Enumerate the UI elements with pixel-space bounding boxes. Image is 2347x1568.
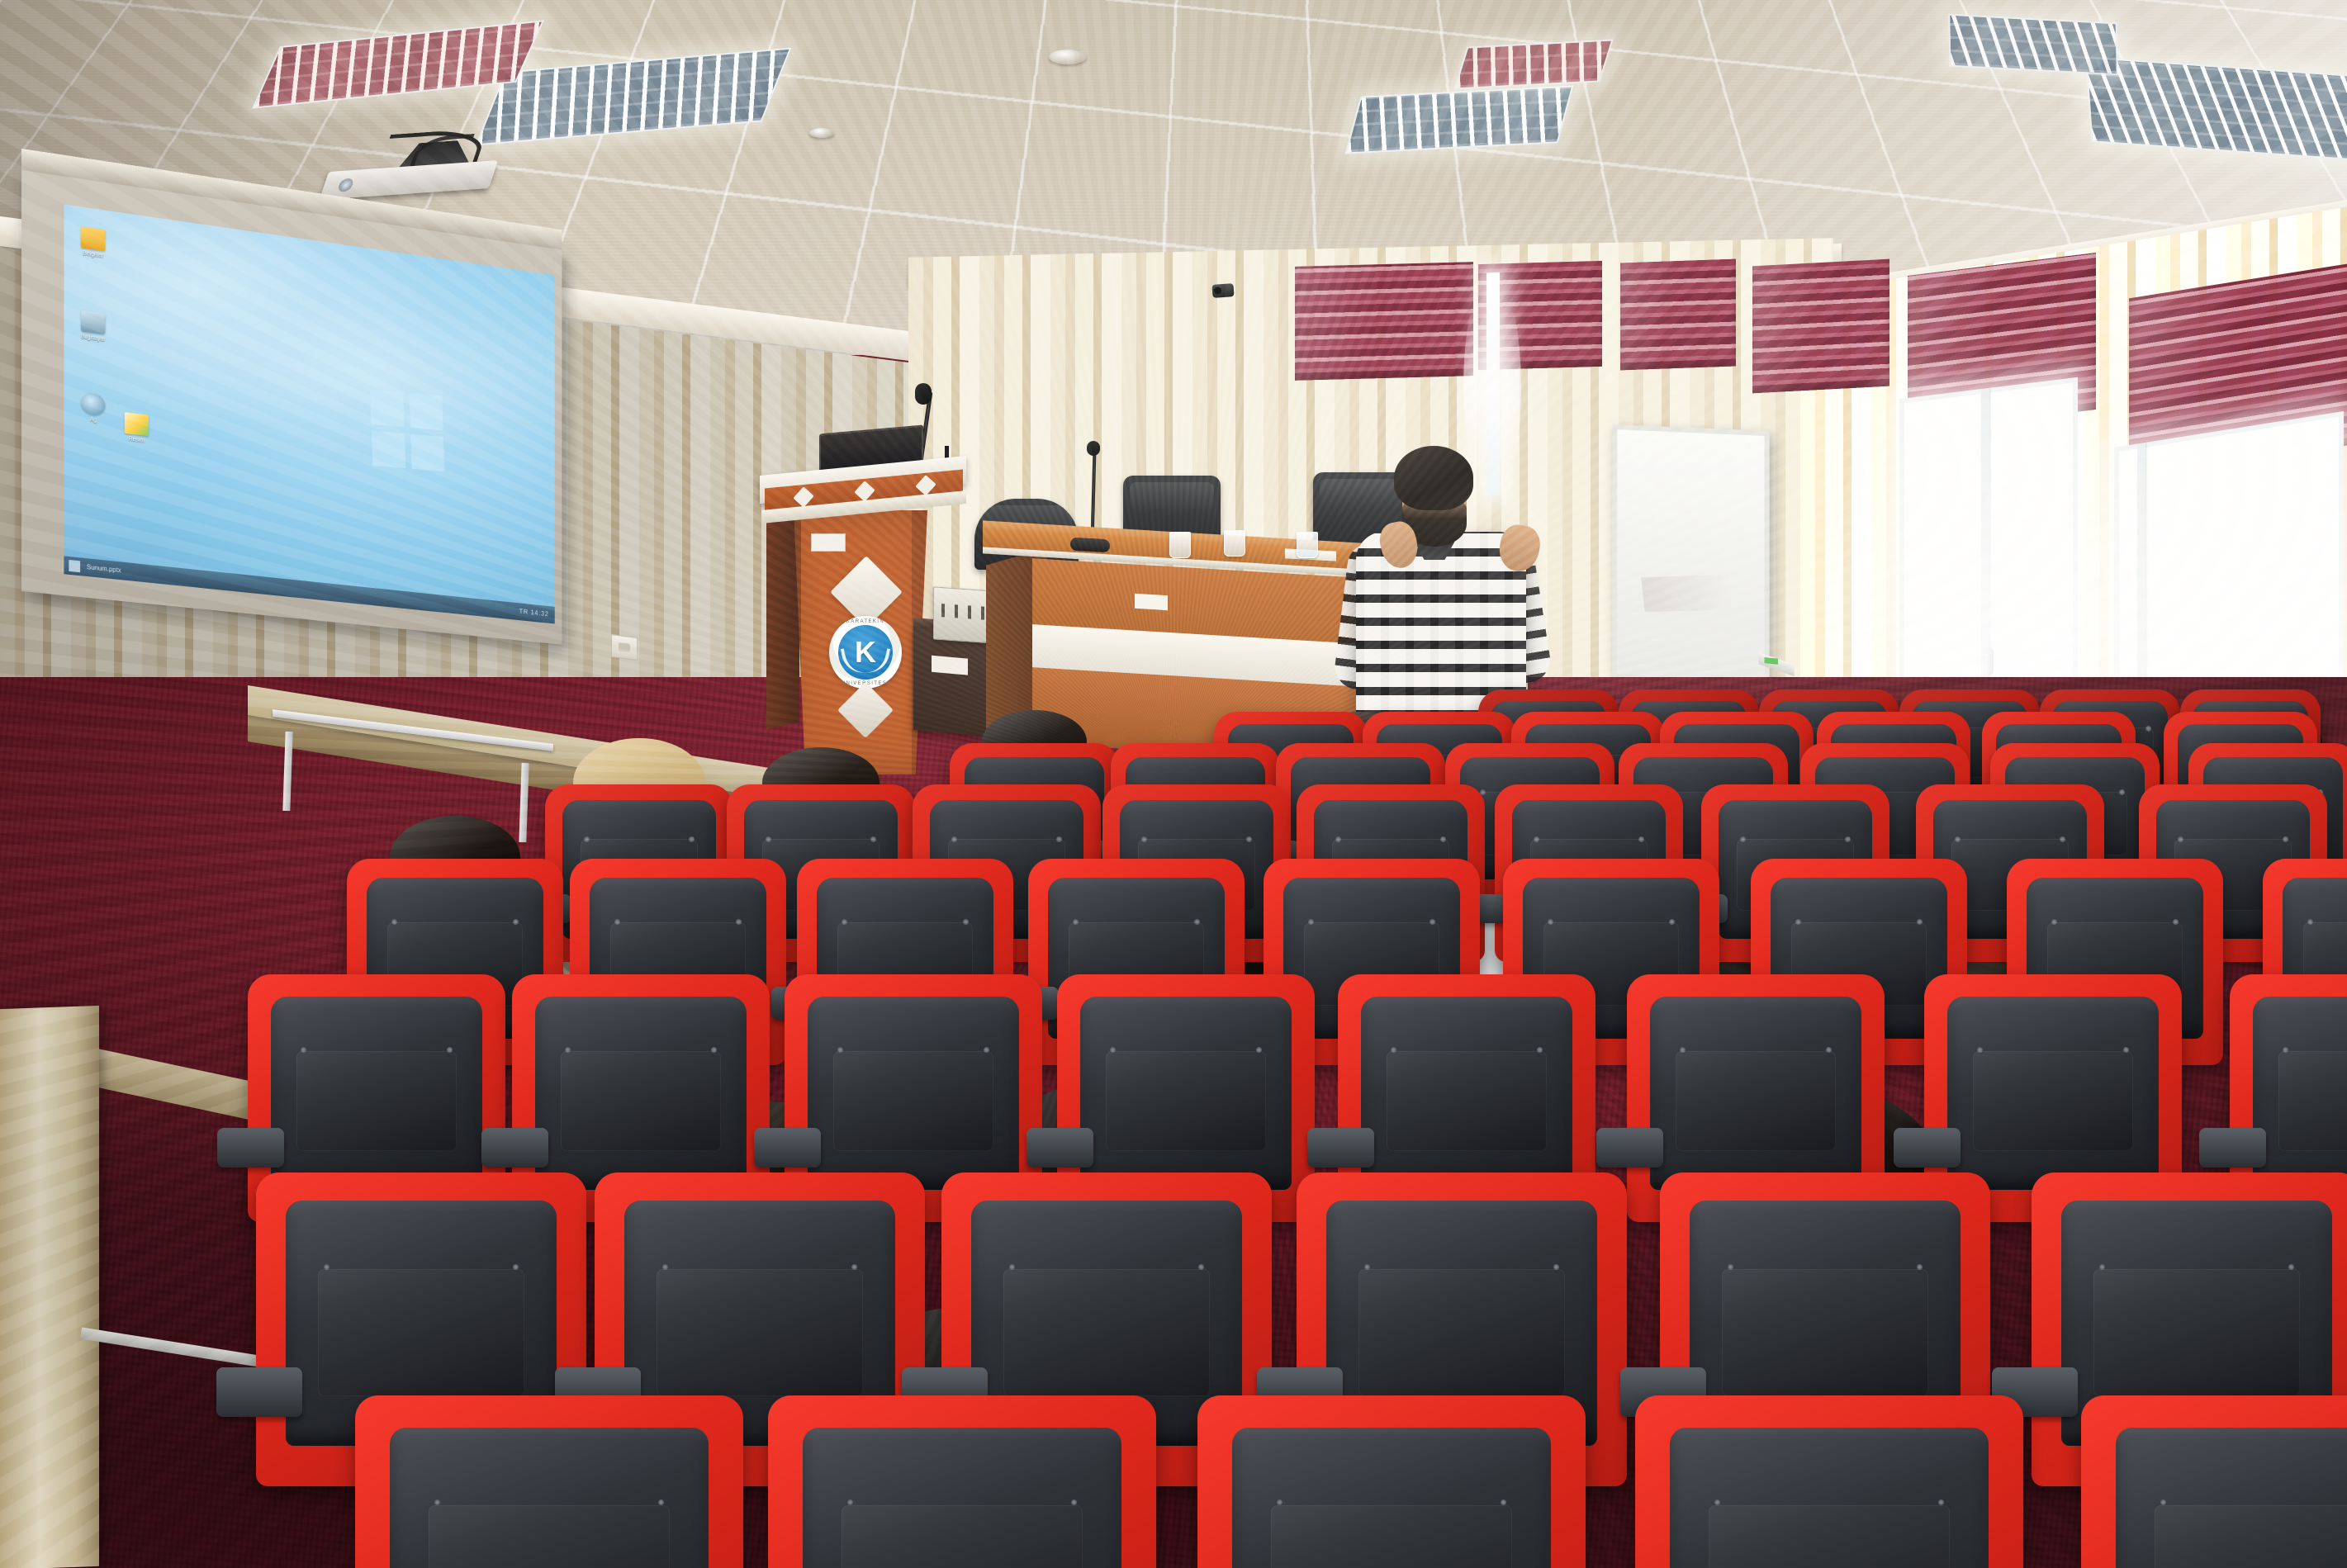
seat-armrest: [1596, 1128, 1663, 1168]
auditorium-seat[interactable]: [1635, 1395, 2023, 1568]
seat-back: [1650, 997, 1861, 1190]
seat-back: [808, 997, 1019, 1190]
seat-back: [2253, 997, 2347, 1190]
door-jamb: [0, 1006, 99, 1568]
seat-back: [1947, 997, 2159, 1190]
seat-armrest: [2199, 1128, 2266, 1168]
seat-armrest: [1307, 1128, 1374, 1168]
audience-seating-area: [0, 0, 2347, 1568]
seat-back: [2116, 1428, 2347, 1568]
seat-back: [535, 997, 747, 1190]
auditorium-seat[interactable]: [1197, 1395, 1586, 1568]
auditorium-seat[interactable]: [768, 1395, 1156, 1568]
seat-armrest: [216, 1367, 302, 1418]
auditorium-seat[interactable]: [355, 1395, 743, 1568]
seat-armrest: [481, 1128, 548, 1168]
seat-back: [390, 1428, 708, 1568]
seat-armrest: [217, 1128, 284, 1168]
seat-armrest: [1027, 1128, 1093, 1168]
auditorium-seat[interactable]: [2081, 1395, 2347, 1568]
seat-armrest: [754, 1128, 821, 1168]
seat-back: [271, 997, 482, 1190]
seat-back: [1361, 997, 1572, 1190]
seat-back: [1232, 1428, 1550, 1568]
seat-back: [803, 1428, 1121, 1568]
seat-armrest: [1894, 1128, 1961, 1168]
seat-back: [1670, 1428, 1988, 1568]
seat-back: [1080, 997, 1292, 1190]
lecture-hall-photo: Belgeler Bilgisayar Ag Resim Sunum.pptx …: [0, 0, 2347, 1568]
